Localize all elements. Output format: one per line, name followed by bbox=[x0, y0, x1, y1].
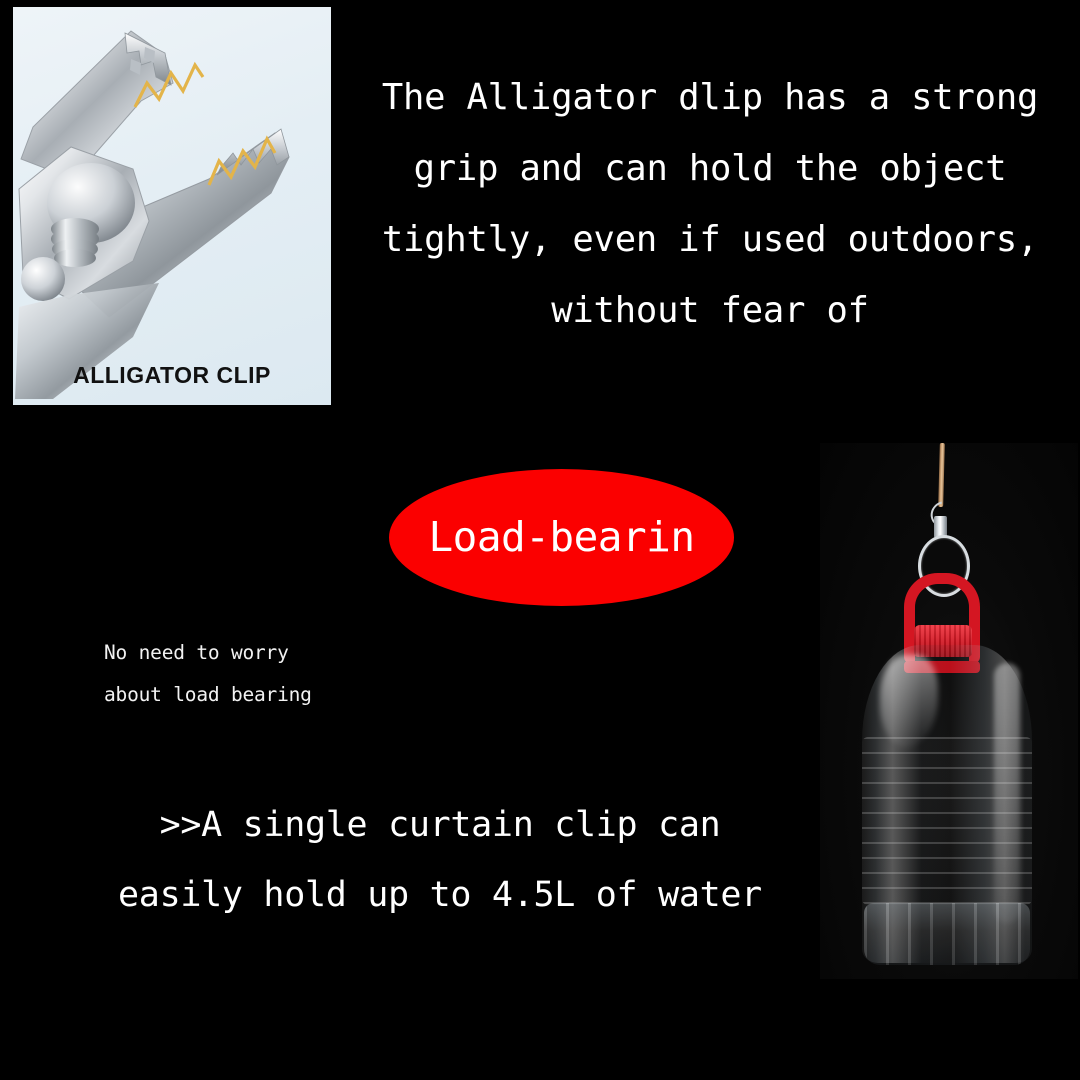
capacity-claim-text: >>A single curtain clip can easily hold … bbox=[60, 790, 820, 930]
bottle-shoulder-highlight bbox=[880, 655, 938, 747]
alligator-clip-caption: ALLIGATOR CLIP bbox=[13, 362, 331, 389]
alligator-clip-illustration bbox=[13, 7, 331, 405]
headline-line-2: grip and can hold the object bbox=[360, 133, 1060, 204]
hanging-water-bottle-photo bbox=[820, 443, 1078, 979]
note-line-2: about load bearing bbox=[104, 674, 312, 716]
alligator-clip-svg bbox=[13, 7, 331, 405]
claim-line-1: >>A single curtain clip can bbox=[60, 790, 820, 860]
load-bearing-badge: Load-bearin bbox=[389, 469, 734, 606]
claim-line-2: easily hold up to 4.5L of water bbox=[60, 860, 820, 930]
load-bearing-badge-label: Load-bearin bbox=[428, 517, 694, 558]
alligator-clip-card: ALLIGATOR CLIP bbox=[13, 7, 331, 405]
headline-line-3: tightly, even if used outdoors, bbox=[360, 204, 1060, 275]
bottle-base bbox=[864, 903, 1030, 965]
headline-line-1: The Alligator dlip has a strong bbox=[360, 62, 1060, 133]
bottle-base-feet bbox=[864, 903, 1030, 965]
headline-text: The Alligator dlip has a strong grip and… bbox=[360, 62, 1060, 346]
load-bearing-note: No need to worry about load bearing bbox=[104, 632, 312, 716]
promo-page: ALLIGATOR CLIP The Alligator dlip has a … bbox=[0, 0, 1080, 1080]
hanging-rope bbox=[938, 443, 945, 507]
note-line-1: No need to worry bbox=[104, 632, 312, 674]
headline-line-4: without fear of bbox=[360, 275, 1060, 346]
bottle-ribs bbox=[862, 737, 1032, 905]
